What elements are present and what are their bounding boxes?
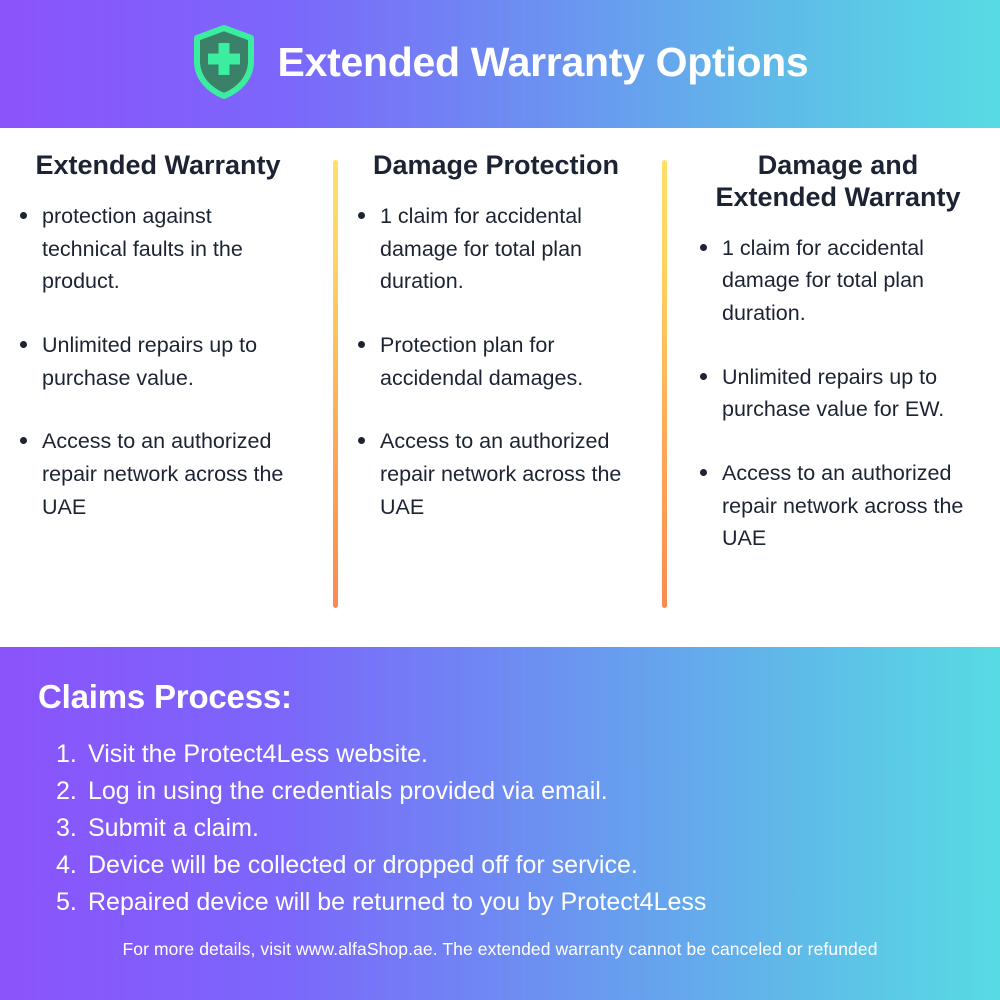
column-heading-3-line1: Damage and — [694, 150, 982, 182]
claims-process-section: Claims Process: Visit the Protect4Less w… — [0, 647, 1000, 1000]
column-heading-3: Damage and Extended Warranty — [694, 150, 982, 214]
feature-item: Protection plan for accidendal damages. — [352, 329, 640, 394]
feature-item: Access to an authorized repair network a… — [694, 457, 982, 555]
claims-step-item: Visit the Protect4Less website. — [52, 736, 706, 773]
claims-step-item: Device will be collected or dropped off … — [52, 847, 706, 884]
page-title: Extended Warranty Options — [278, 39, 809, 86]
shield-plus-icon — [192, 25, 256, 99]
feature-item: Access to an authorized repair network a… — [352, 425, 640, 523]
header-banner: Extended Warranty Options — [0, 0, 1000, 128]
plan-comparison-section: Extended Warranty protection against tec… — [0, 128, 1000, 647]
feature-item: 1 claim for accidental damage for total … — [694, 232, 982, 330]
plan-columns: Extended Warranty protection against tec… — [0, 128, 1000, 647]
header-content: Extended Warranty Options — [192, 25, 809, 99]
column-heading-3-line2: Extended Warranty — [694, 182, 982, 214]
column-heading-1: Extended Warranty — [14, 150, 302, 182]
plan-column-extended-warranty: Extended Warranty protection against tec… — [0, 128, 324, 647]
plan-column-damage-protection: Damage Protection 1 claim for accidental… — [324, 128, 662, 647]
feature-list-1: protection against technical faults in t… — [14, 200, 302, 523]
feature-item: Access to an authorized repair network a… — [14, 425, 302, 523]
infographic-page: Extended Warranty Options Extended Warra… — [0, 0, 1000, 1000]
claims-step-item: Log in using the credentials provided vi… — [52, 773, 706, 810]
feature-item: protection against technical faults in t… — [14, 200, 302, 298]
claims-step-list: Visit the Protect4Less website. Log in u… — [52, 736, 706, 921]
claims-step-item: Repaired device will be returned to you … — [52, 884, 706, 921]
claims-step-item: Submit a claim. — [52, 810, 706, 847]
column-heading-2: Damage Protection — [352, 150, 640, 182]
feature-list-3: 1 claim for accidental damage for total … — [694, 232, 982, 555]
feature-item: Unlimited repairs up to purchase value f… — [694, 361, 982, 426]
claims-process-title: Claims Process: — [38, 678, 292, 716]
plan-column-damage-and-extended-warranty: Damage and Extended Warranty 1 claim for… — [662, 128, 1000, 647]
feature-item: 1 claim for accidental damage for total … — [352, 200, 640, 298]
footer-note: For more details, visit www.alfaShop.ae.… — [0, 939, 1000, 960]
feature-list-2: 1 claim for accidental damage for total … — [352, 200, 640, 523]
feature-item: Unlimited repairs up to purchase value. — [14, 329, 302, 394]
